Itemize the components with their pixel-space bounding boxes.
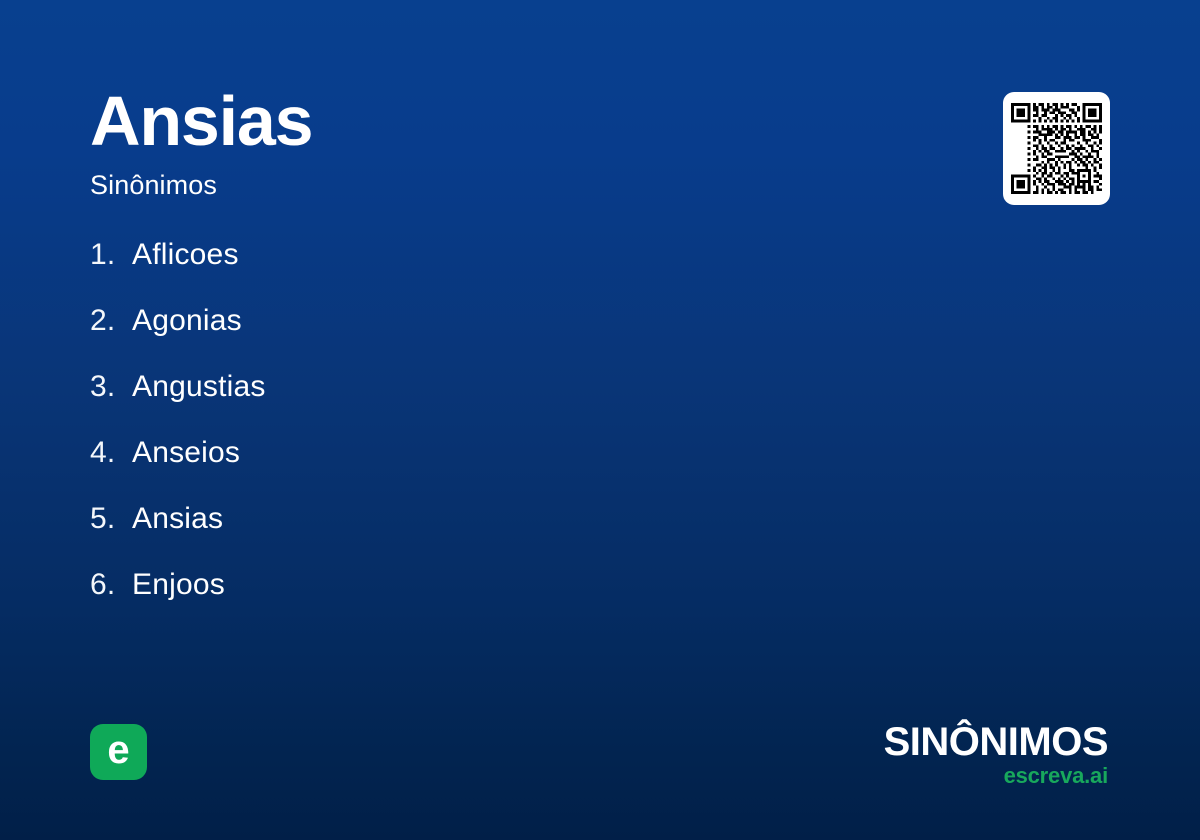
- synonyms-list: 1. Aflicoes 2. Agonias 3. Angustias 4. A…: [90, 238, 790, 634]
- page-title: Ansias: [90, 86, 312, 156]
- list-item-word: Anseios: [132, 436, 240, 470]
- synonyms-card: Ansias Sinônimos: [0, 0, 1200, 840]
- page-subtitle: Sinônimos: [90, 170, 312, 201]
- list-item-index: 2.: [90, 304, 132, 338]
- brand-lockup: SINÔNIMOS escreva.ai: [884, 722, 1108, 787]
- list-item-word: Ansias: [132, 502, 223, 536]
- list-item: 1. Aflicoes: [90, 238, 790, 304]
- qr-code-icon: [1011, 101, 1102, 196]
- list-item-index: 6.: [90, 568, 132, 602]
- brand-name: SINÔNIMOS: [884, 722, 1108, 762]
- list-item-word: Angustias: [132, 370, 266, 404]
- list-item: 5. Ansias: [90, 502, 790, 568]
- brand-domain: escreva.ai: [884, 765, 1108, 787]
- app-badge-letter: e: [107, 730, 129, 770]
- list-item: 2. Agonias: [90, 304, 790, 370]
- list-item-index: 3.: [90, 370, 132, 404]
- list-item-index: 5.: [90, 502, 132, 536]
- list-item-index: 4.: [90, 436, 132, 470]
- escreva-app-icon[interactable]: e: [90, 724, 147, 780]
- list-item: 6. Enjoos: [90, 568, 790, 634]
- list-item-word: Agonias: [132, 304, 242, 338]
- list-item-word: Enjoos: [132, 568, 225, 602]
- qr-code[interactable]: [1003, 92, 1110, 205]
- list-item-word: Aflicoes: [132, 238, 239, 272]
- header-block: Ansias Sinônimos: [90, 86, 312, 201]
- list-item: 4. Anseios: [90, 436, 790, 502]
- list-item: 3. Angustias: [90, 370, 790, 436]
- list-item-index: 1.: [90, 238, 132, 272]
